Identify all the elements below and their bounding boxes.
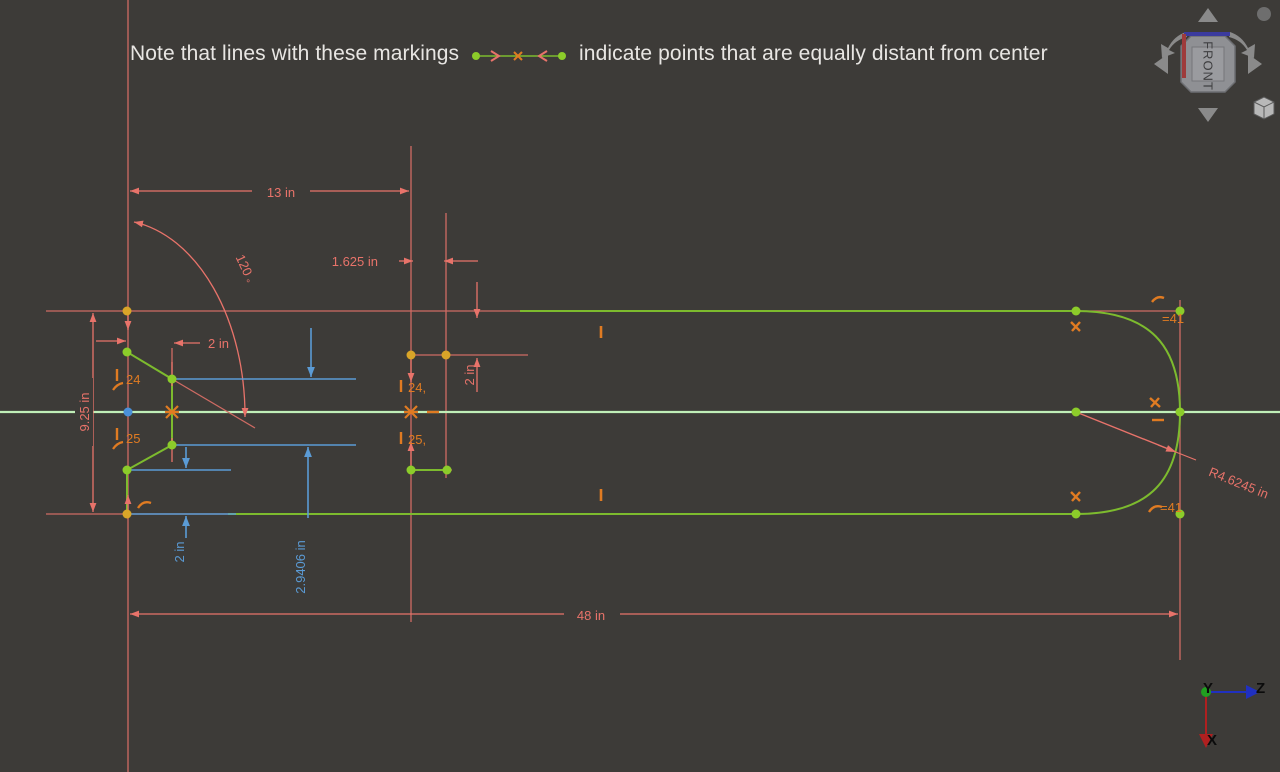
home-dot-icon[interactable] bbox=[1257, 7, 1271, 21]
profile-notch-lower[interactable] bbox=[127, 412, 172, 514]
annotation-note: Note that lines with these markings indi… bbox=[130, 42, 1048, 66]
dim-2in-blue-label[interactable]: 2 in bbox=[172, 542, 187, 563]
constraint-25-left-label[interactable]: 25 bbox=[126, 431, 140, 446]
constraint-25-left[interactable]: 25 bbox=[113, 428, 140, 449]
constraint-markers[interactable]: 24 25 24, 25, =41 =4 bbox=[113, 297, 1184, 515]
tangent-arc-icon[interactable] bbox=[138, 502, 151, 508]
constraint-24-mid[interactable]: 24, bbox=[401, 380, 426, 395]
point-green[interactable] bbox=[168, 441, 177, 450]
point-green[interactable] bbox=[1176, 408, 1185, 417]
dim-120deg-suffix: ° bbox=[240, 278, 252, 286]
constraint-41-top-label[interactable]: =41 bbox=[1162, 311, 1184, 326]
right-arrow-icon[interactable] bbox=[1248, 54, 1262, 74]
dim-2in-mid[interactable]: 2 in bbox=[462, 282, 477, 392]
tangent-marker[interactable] bbox=[1071, 492, 1080, 501]
axis-z-label: Z bbox=[1256, 680, 1265, 697]
constraint-25-mid-label[interactable]: 25, bbox=[408, 432, 426, 447]
dim-925in-label[interactable]: 9.25 in bbox=[77, 392, 92, 431]
constraint-41-bottom-label[interactable]: =41 bbox=[1160, 500, 1182, 515]
constraint-24-mid-label[interactable]: 24, bbox=[408, 380, 426, 395]
axis-triad: Y Z X bbox=[1186, 672, 1280, 772]
point-green[interactable] bbox=[1072, 408, 1081, 417]
dim-120deg-leader bbox=[172, 379, 255, 428]
reference-lines bbox=[46, 0, 1180, 772]
dim-120deg-label[interactable]: 120 bbox=[233, 252, 256, 278]
axis-x-label: X bbox=[1207, 732, 1217, 749]
dim-48in[interactable]: 48 in bbox=[130, 604, 1178, 624]
equal-distance-marker-icon bbox=[471, 46, 567, 62]
dim-13in[interactable]: 13 in bbox=[130, 181, 409, 201]
cad-sketch-viewport[interactable]: 13 in 120 ° 1.625 in 2 in bbox=[0, 0, 1280, 772]
dim-2in-top-label[interactable]: 2 in bbox=[208, 336, 229, 351]
dim-1625in-label[interactable]: 1.625 in bbox=[332, 254, 378, 269]
constraint-41-bottom[interactable]: =41 bbox=[1149, 500, 1182, 515]
axis-y-label: Y bbox=[1203, 680, 1213, 697]
dim-2in-mid-label[interactable]: 2 in bbox=[462, 365, 477, 386]
annotation-note-text-before: Note that lines with these markings bbox=[130, 42, 459, 66]
dim-blue-group[interactable]: 2 in 2.9406 in bbox=[128, 328, 356, 594]
dim-13in-label[interactable]: 13 in bbox=[267, 185, 295, 200]
point-orange[interactable] bbox=[442, 351, 451, 360]
left-arrow-icon[interactable] bbox=[1154, 54, 1168, 74]
dim-2in-top[interactable]: 2 in bbox=[174, 336, 229, 351]
cube-icon[interactable] bbox=[1254, 97, 1274, 119]
constraint-25-mid[interactable]: 25, bbox=[401, 432, 426, 447]
constraint-24-left-label[interactable]: 24 bbox=[126, 372, 140, 387]
sketch-canvas[interactable]: 13 in 120 ° 1.625 in 2 in bbox=[0, 0, 1280, 772]
dim-1625in[interactable]: 1.625 in bbox=[332, 254, 478, 269]
dim-48in-label[interactable]: 48 in bbox=[577, 608, 605, 623]
dim-120deg-arc bbox=[134, 222, 245, 417]
tangent-marker[interactable] bbox=[1150, 398, 1160, 407]
point-green[interactable] bbox=[1072, 510, 1081, 519]
dim-29406in-label[interactable]: 2.9406 in bbox=[293, 540, 308, 594]
point-green[interactable] bbox=[168, 375, 177, 384]
annotation-note-text-after: indicate points that are equally distant… bbox=[579, 42, 1048, 66]
dim-925in[interactable]: 9.25 in bbox=[75, 313, 93, 512]
dim-r46245in-label[interactable]: R4.6245 in bbox=[1207, 464, 1271, 501]
down-arrow-icon[interactable] bbox=[1198, 108, 1218, 122]
point-orange[interactable] bbox=[123, 307, 132, 316]
point-green[interactable] bbox=[123, 466, 132, 475]
point-green[interactable] bbox=[123, 348, 132, 357]
point-orange[interactable] bbox=[123, 510, 132, 519]
dim-120deg[interactable]: 120 ° bbox=[134, 222, 258, 428]
point-blue[interactable] bbox=[124, 408, 133, 417]
up-arrow-icon[interactable] bbox=[1198, 8, 1218, 22]
point-green[interactable] bbox=[407, 466, 416, 475]
navcube-inner-face[interactable] bbox=[1192, 47, 1224, 81]
point-orange[interactable] bbox=[407, 351, 416, 360]
point-green[interactable] bbox=[1072, 307, 1081, 316]
tangent-marker[interactable] bbox=[1071, 322, 1080, 331]
navigation-cube[interactable]: FRONT bbox=[1140, 2, 1276, 130]
point-green[interactable] bbox=[443, 466, 452, 475]
constraint-24-left[interactable]: 24 bbox=[113, 369, 140, 390]
